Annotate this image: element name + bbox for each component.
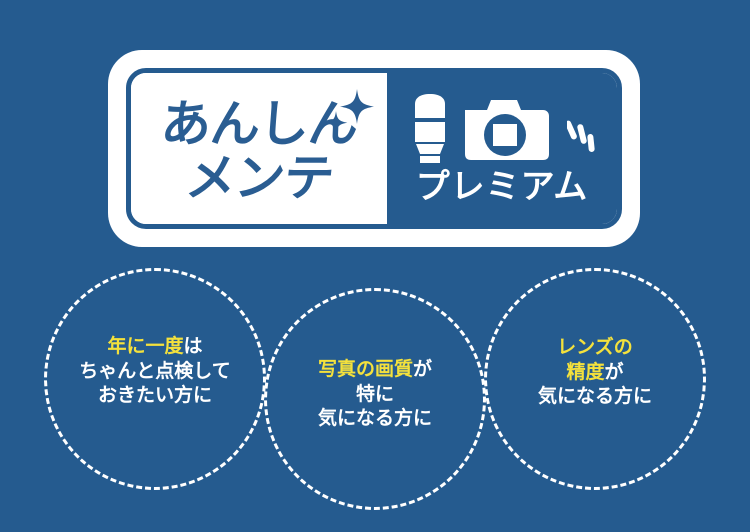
badge-logo-panel: あんしん メンテ (131, 73, 387, 224)
bubble-line: 写真の画質が (318, 358, 432, 383)
bubble-text: レンズの 精度が 気になる方に (538, 336, 652, 410)
badge-inner-frame: あんしん メンテ (126, 68, 622, 229)
bubble-yearly-inspection: 年に一度は ちゃんと点検して おきたい方に (44, 268, 266, 490)
premium-badge: あんしん メンテ (108, 50, 640, 247)
bubble-plain: は (184, 336, 203, 357)
bubble-plain: が (604, 362, 623, 383)
bubble-line: 特に (318, 383, 432, 408)
bubble-highlight: レンズの (557, 337, 633, 358)
badge-premium-panel: プレミアム (387, 73, 617, 224)
bubble-line: 気になる方に (318, 407, 432, 432)
bubble-highlight: 年に一度 (107, 336, 183, 357)
badge-icon-row (407, 90, 597, 164)
logo-line-2: メンテ (183, 153, 335, 203)
logo-line-1: あんしん (160, 99, 359, 149)
flash-sparkle-icon (567, 118, 597, 164)
bubble-line: ちゃんと点検して (79, 360, 230, 385)
bubble-line: レンズの (538, 336, 652, 361)
camera-icon (465, 92, 555, 164)
logo-lockup: あんしん メンテ (131, 73, 387, 224)
camera-lens-icon (407, 92, 453, 164)
bubble-plain: 特に (356, 384, 394, 405)
bubble-plain: 気になる方に (318, 408, 432, 429)
bubble-plain: 気になる方に (538, 386, 652, 407)
bubble-line: 精度が (538, 361, 652, 386)
bubble-plain: が (413, 359, 432, 380)
bubble-text: 写真の画質が 特に 気になる方に (318, 358, 432, 432)
bubble-highlight: 写真の画質 (318, 359, 413, 380)
bubble-text: 年に一度は ちゃんと点検して おきたい方に (79, 335, 230, 409)
bubble-lens-precision: レンズの 精度が 気になる方に (484, 268, 706, 490)
bubble-plain: ちゃんと点検して (79, 361, 230, 382)
bubble-highlight: 精度 (566, 362, 604, 383)
bubble-line: 気になる方に (538, 385, 652, 410)
promo-banner: あんしん メンテ (0, 0, 750, 532)
bubble-line: おきたい方に (79, 384, 230, 409)
bubble-line: 年に一度は (79, 335, 230, 360)
bubble-photo-quality: 写真の画質が 特に 気になる方に (264, 288, 486, 510)
premium-label: プレミアム (416, 170, 589, 204)
bubble-plain: おきたい方に (98, 385, 212, 406)
